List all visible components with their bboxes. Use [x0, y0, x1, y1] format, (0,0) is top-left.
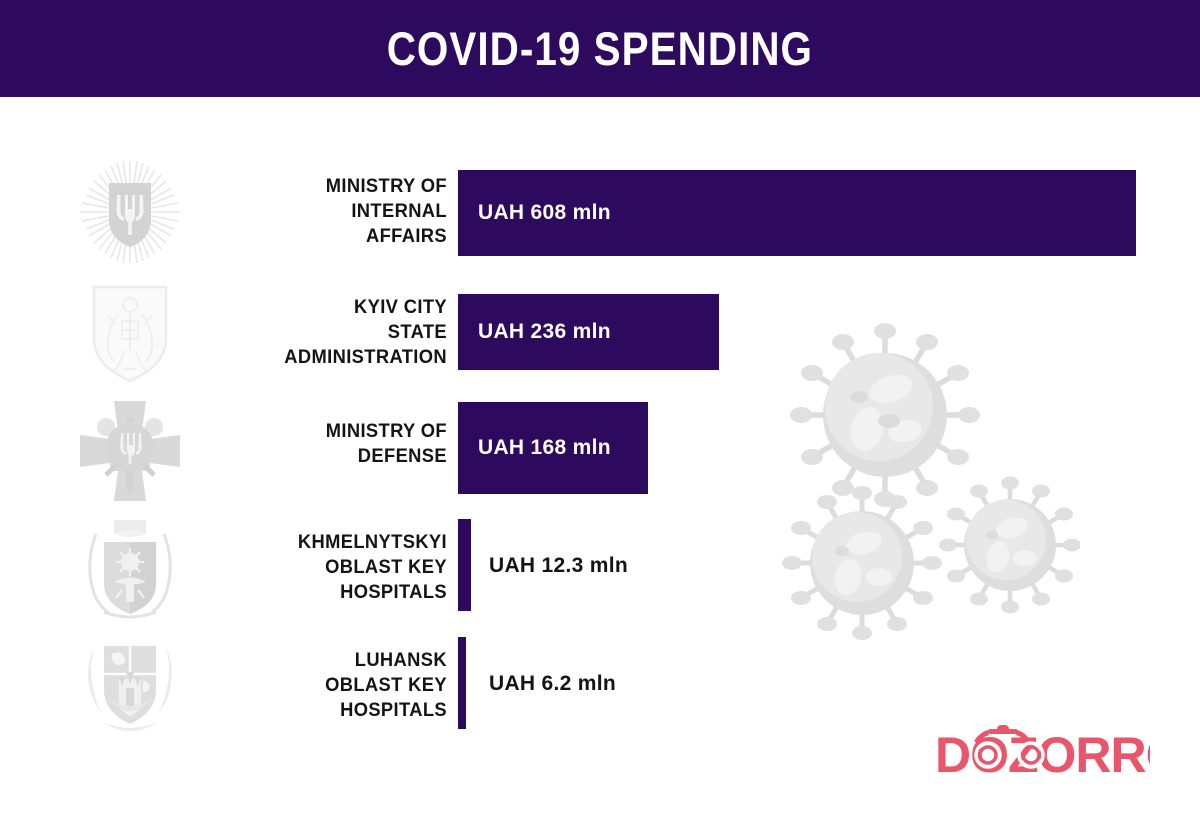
infographic-page: COVID-19 SPENDING	[0, 0, 1200, 816]
label-line: KYIV CITY	[205, 295, 447, 320]
bar-value-label: UAH 168 mln	[478, 436, 611, 460]
label-line: HOSPITALS	[205, 698, 447, 723]
bar-value-label: UAH 608 mln	[478, 201, 611, 225]
bar-ministry-of-internal-affairs: UAH 608 mln	[458, 170, 1136, 256]
row-emblem	[70, 626, 190, 744]
label-line: ADMINISTRATION	[205, 345, 447, 370]
label-line: AFFAIRS	[205, 224, 447, 249]
bar-khmelnytskyi-oblast-key-hospitals	[458, 519, 471, 611]
label-line: STATE	[205, 320, 447, 345]
bar-value-label: UAH 236 mln	[478, 320, 611, 344]
chart-row: KYIV CITY STATE ADMINISTRATION UAH 236 m…	[0, 275, 1200, 390]
chart-row: KHMELNYTSKYI OBLAST KEY HOSPITALS UAH 12…	[0, 508, 1200, 626]
label-line: INTERNAL	[205, 199, 447, 224]
row-label: MINISTRY OF INTERNAL AFFAIRS	[205, 174, 447, 249]
kyiv-city-coat-of-arms	[80, 281, 180, 385]
luhansk-oblast-coat-of-arms	[78, 630, 182, 740]
chart-row: MINISTRY OF DEFENSE UAH 168 mln	[0, 393, 1200, 508]
bar-ministry-of-defense: UAH 168 mln	[458, 402, 648, 494]
row-emblem	[70, 275, 190, 390]
row-emblem	[70, 152, 190, 272]
label-line: MINISTRY OF	[205, 419, 447, 444]
row-label: KYIV CITY STATE ADMINISTRATION	[205, 295, 447, 370]
ministry-of-defense-emblem	[76, 397, 184, 505]
label-line: DEFENSE	[205, 444, 447, 469]
bar-value-label: UAH 12.3 mln	[489, 554, 628, 578]
row-emblem	[70, 393, 190, 508]
chart-row: MINISTRY OF INTERNAL AFFAIRS UAH 608 mln	[0, 152, 1200, 272]
dozorro-logo[interactable]: DOZORRO	[935, 722, 1150, 784]
spending-bar-chart: MINISTRY OF INTERNAL AFFAIRS UAH 608 mln	[0, 97, 1200, 816]
label-line: KHMELNYTSKYI	[205, 530, 447, 555]
label-line: OBLAST KEY	[205, 673, 447, 698]
page-title: COVID-19 SPENDING	[387, 25, 813, 72]
ministry-of-internal-affairs-emblem	[75, 157, 185, 267]
label-line: OBLAST KEY	[205, 555, 447, 580]
bar-kyiv-city-state-administration: UAH 236 mln	[458, 294, 719, 370]
bar-value-label: UAH 6.2 mln	[489, 672, 616, 696]
bar-luhansk-oblast-key-hospitals	[458, 637, 466, 729]
header-band: COVID-19 SPENDING	[0, 0, 1200, 97]
row-label: MINISTRY OF DEFENSE	[205, 419, 447, 469]
khmelnytskyi-oblast-coat-of-arms	[78, 512, 182, 622]
row-label: KHMELNYTSKYI OBLAST KEY HOSPITALS	[205, 530, 447, 605]
row-label: LUHANSK OBLAST KEY HOSPITALS	[205, 648, 447, 723]
label-line: HOSPITALS	[205, 580, 447, 605]
label-line: LUHANSK	[205, 648, 447, 673]
label-line: MINISTRY OF	[205, 174, 447, 199]
row-emblem	[70, 508, 190, 626]
